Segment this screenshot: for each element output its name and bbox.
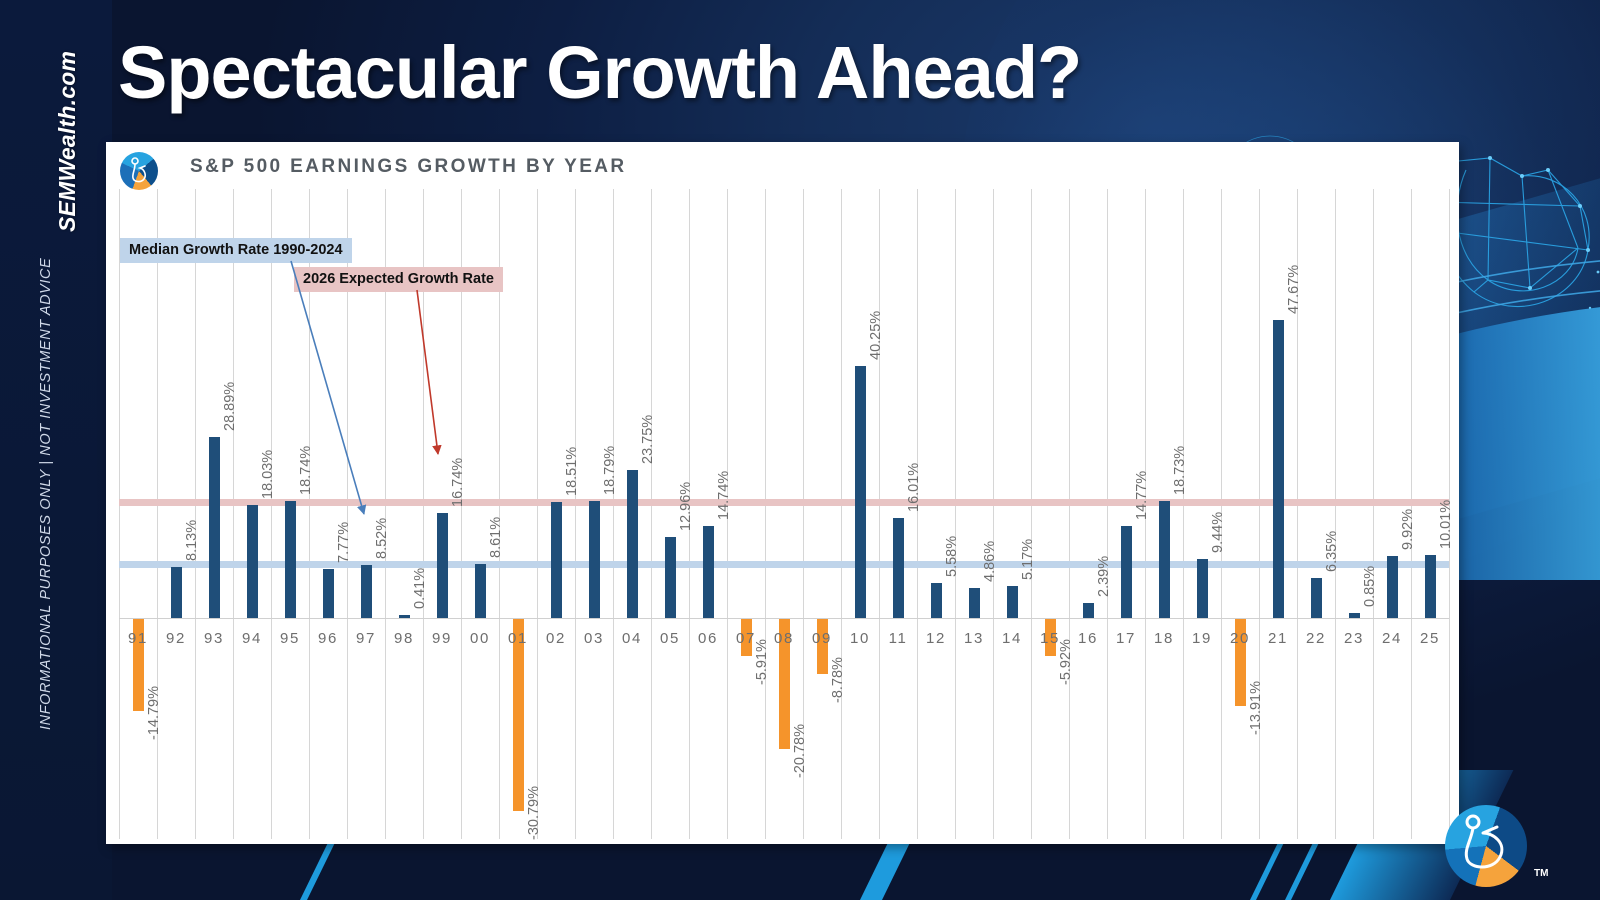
chart-panel: S&P 500 EARNINGS GROWTH BY YEAR -14.79%8… <box>106 142 1459 844</box>
x-axis-label: 16 <box>1069 630 1107 647</box>
x-axis-label: 13 <box>955 630 993 647</box>
bar <box>627 470 638 618</box>
bar <box>399 615 410 618</box>
gridline <box>1069 189 1070 839</box>
bar-value-label: 40.25% <box>868 311 884 360</box>
bar <box>703 526 714 618</box>
bar-value-label: -14.79% <box>146 686 162 740</box>
x-axis-label: 03 <box>575 630 613 647</box>
bar <box>247 505 258 618</box>
bar-value-label: 18.74% <box>298 446 314 495</box>
bar <box>893 518 904 618</box>
gridline <box>1183 189 1184 839</box>
bar <box>1387 556 1398 618</box>
x-axis-label: 04 <box>613 630 651 647</box>
bar-value-label: -20.78% <box>792 724 808 778</box>
x-axis-label: 20 <box>1221 630 1259 647</box>
gridline <box>271 189 272 839</box>
x-axis-label: 07 <box>727 630 765 647</box>
gridline <box>765 189 766 839</box>
bar-value-label: 47.67% <box>1286 265 1302 314</box>
bar-value-label: 23.75% <box>640 414 656 463</box>
x-axis-label: 17 <box>1107 630 1145 647</box>
bar-value-label: 14.74% <box>716 471 732 520</box>
bar-value-label: 2.39% <box>1096 556 1112 597</box>
gridline <box>1373 189 1374 839</box>
gridline <box>1031 189 1032 839</box>
x-axis-label: 25 <box>1411 630 1449 647</box>
bar-value-label: 9.92% <box>1400 509 1416 550</box>
gridline <box>651 189 652 839</box>
bar <box>589 501 600 618</box>
bar <box>475 564 486 618</box>
bar <box>1197 559 1208 618</box>
x-axis-label: 05 <box>651 630 689 647</box>
x-axis-label: 99 <box>423 630 461 647</box>
x-axis-label: 96 <box>309 630 347 647</box>
reference-line-median <box>119 561 1449 568</box>
bar-value-label: 18.03% <box>260 450 276 499</box>
bar-value-label: 8.61% <box>488 517 504 558</box>
chart-title: S&P 500 EARNINGS GROWTH BY YEAR <box>190 156 627 178</box>
x-axis-label: 12 <box>917 630 955 647</box>
x-axis-label: 21 <box>1259 630 1297 647</box>
bar <box>171 567 182 618</box>
bar-value-label: 28.89% <box>222 382 238 431</box>
bar-value-label: 8.52% <box>374 518 390 559</box>
x-axis-label: 18 <box>1145 630 1183 647</box>
bar-value-label: 10.01% <box>1438 500 1454 549</box>
x-axis-label: 11 <box>879 630 917 647</box>
x-axis-label: 14 <box>993 630 1031 647</box>
bar-value-label: 5.17% <box>1020 539 1036 580</box>
x-axis-label: 09 <box>803 630 841 647</box>
x-axis-label: 22 <box>1297 630 1335 647</box>
bar <box>1273 320 1284 618</box>
disclaimer-text: INFORMATIONAL PURPOSES ONLY | NOT INVEST… <box>38 258 54 730</box>
bar <box>361 565 372 618</box>
brand-watermark: SEMWealth.com <box>54 51 81 232</box>
x-axis-label: 93 <box>195 630 233 647</box>
bar-value-label: 8.13% <box>184 520 200 561</box>
gridline <box>879 189 880 839</box>
bar <box>285 501 296 618</box>
page-title: Spectacular Growth Ahead? <box>118 36 1081 110</box>
semwealth-logo-large-icon <box>1445 805 1527 887</box>
gridline <box>1335 189 1336 839</box>
bar-value-label: -13.91% <box>1248 681 1264 735</box>
gridline <box>157 189 158 839</box>
bar <box>1311 578 1322 618</box>
bar-value-label: 4.86% <box>982 540 998 581</box>
semwealth-logo-icon <box>120 152 158 190</box>
bar <box>437 513 448 618</box>
x-axis-label: 10 <box>841 630 879 647</box>
bar-value-label: 0.41% <box>412 568 428 609</box>
bar-value-label: 18.51% <box>564 447 580 496</box>
bar-value-label: 5.58% <box>944 536 960 577</box>
gridline <box>233 189 234 839</box>
bar <box>855 366 866 618</box>
gridline <box>195 189 196 839</box>
x-axis-label: 00 <box>461 630 499 647</box>
gridline <box>119 189 120 839</box>
bar-value-label: 18.73% <box>1172 446 1188 495</box>
bar-value-label: 18.79% <box>602 445 618 494</box>
bar <box>513 619 524 811</box>
bar <box>1121 526 1132 618</box>
callout-2026-expected-growth-rate: 2026 Expected Growth Rate <box>294 267 503 292</box>
bar <box>323 569 334 618</box>
gridline <box>537 189 538 839</box>
x-axis-label: 95 <box>271 630 309 647</box>
bar-value-label: 9.44% <box>1210 512 1226 553</box>
bar-value-label: -30.79% <box>526 786 542 840</box>
reference-line-expected <box>119 499 1449 506</box>
bar-value-label: 7.77% <box>336 522 352 563</box>
gridline <box>993 189 994 839</box>
gridline <box>841 189 842 839</box>
bar <box>665 537 676 618</box>
callout-median-growth-rate: Median Growth Rate 1990-2024 <box>120 238 352 263</box>
bar-value-label: 16.01% <box>906 463 922 512</box>
bar-value-label: 16.74% <box>450 458 466 507</box>
bar <box>209 437 220 618</box>
x-axis-label: 24 <box>1373 630 1411 647</box>
trademark-mark: TM <box>1534 868 1548 879</box>
bar <box>1007 586 1018 618</box>
gridline <box>575 189 576 839</box>
x-axis-label: 94 <box>233 630 271 647</box>
bar <box>1159 501 1170 618</box>
x-axis-label: 08 <box>765 630 803 647</box>
gridline <box>917 189 918 839</box>
bar <box>1425 555 1436 618</box>
gridline <box>1107 189 1108 839</box>
bar <box>551 502 562 618</box>
x-axis-label: 19 <box>1183 630 1221 647</box>
x-axis-label: 92 <box>157 630 195 647</box>
x-axis-label: 97 <box>347 630 385 647</box>
bar <box>931 583 942 618</box>
x-axis-label: 01 <box>499 630 537 647</box>
bar-value-label: 12.96% <box>678 482 694 531</box>
x-axis-label: 23 <box>1335 630 1373 647</box>
x-axis-label: 91 <box>119 630 157 647</box>
bar-value-label: 14.77% <box>1134 470 1150 519</box>
x-axis-label: 02 <box>537 630 575 647</box>
bar-value-label: 0.85% <box>1362 566 1378 607</box>
bar-value-label: 6.35% <box>1324 531 1340 572</box>
bar-value-label: -8.78% <box>830 657 846 703</box>
bar <box>969 588 980 618</box>
stick-figure-glyph <box>129 157 149 185</box>
x-axis-label: 06 <box>689 630 727 647</box>
stick-figure-large-glyph <box>1445 805 1527 887</box>
chart-header: S&P 500 EARNINGS GROWTH BY YEAR <box>106 142 1459 194</box>
bar <box>1083 603 1094 618</box>
x-axis-label: 15 <box>1031 630 1069 647</box>
gridline <box>1259 189 1260 839</box>
gridline <box>955 189 956 839</box>
bar <box>1349 613 1360 618</box>
x-axis-label: 98 <box>385 630 423 647</box>
gridline <box>613 189 614 839</box>
